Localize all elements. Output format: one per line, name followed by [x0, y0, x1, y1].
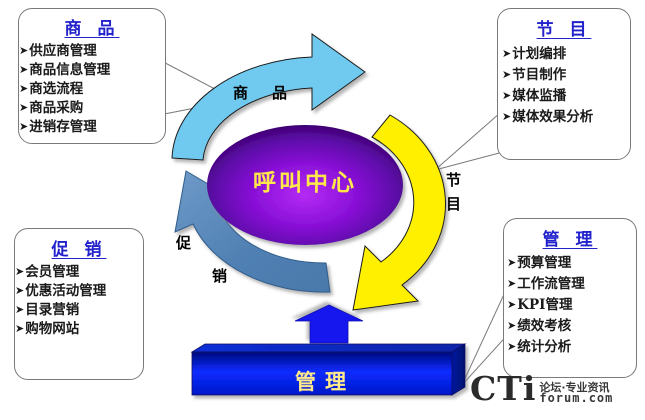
list-item: 媒体监播	[502, 86, 630, 107]
list-item: 绩效考核	[507, 316, 636, 337]
callout-title-program: 节 目	[498, 15, 630, 40]
hub-label: 呼叫中心	[215, 163, 395, 197]
watermark-brand: CTi	[470, 374, 536, 404]
list-item: KPI管理	[507, 295, 636, 316]
manage-arrow	[295, 305, 363, 343]
callout-title-manage: 管 理	[504, 225, 636, 250]
goods-arrow-label: 商品	[233, 82, 311, 103]
callout-list-goods: 供应商管理 商品信息管理 商选流程 商品采购 进销存管理	[19, 42, 165, 137]
list-item: 商品采购	[19, 99, 165, 118]
list-item: 供应商管理	[19, 42, 165, 61]
list-item: 统计分析	[507, 337, 636, 358]
list-item: 商品信息管理	[19, 61, 165, 80]
list-item: 预算管理	[507, 253, 636, 274]
program-arrow-label: 节目	[443, 172, 464, 220]
list-item: 工作流管理	[507, 274, 636, 295]
manage-bar-label: 管理	[190, 366, 460, 396]
watermark-text: 论坛·专业资讯 forum.com	[539, 382, 613, 404]
callout-title-promo: 促 销	[15, 235, 143, 260]
callout-box-program[interactable]: 节 目 计划编排 节目制作 媒体监播 媒体效果分析	[497, 8, 631, 160]
callout-box-goods[interactable]: 商 品 供应商管理 商品信息管理 商选流程 商品采购 进销存管理	[18, 8, 166, 144]
list-item: 会员管理	[15, 263, 143, 282]
list-item: 商选流程	[19, 80, 165, 99]
callout-title-goods: 商 品	[19, 14, 165, 39]
callout-box-promo[interactable]: 促 销 会员管理 优惠活动管理 目录营销 购物网站	[14, 228, 144, 380]
list-item: 优惠活动管理	[15, 282, 143, 301]
diagram-canvas: 商品 节目 促 销 呼叫中心 管理 商 品 供应商管理 商品信息管理 商选流程 …	[0, 0, 645, 420]
callout-list-promo: 会员管理 优惠活动管理 目录营销 购物网站	[15, 263, 143, 339]
callout-box-manage[interactable]: 管 理 预算管理 工作流管理 KPI管理 绩效考核 统计分析	[503, 218, 637, 378]
list-item: 目录营销	[15, 301, 143, 320]
watermark: CTi 论坛·专业资讯 forum.com	[470, 374, 613, 404]
list-item: 计划编排	[502, 44, 630, 65]
callout-list-manage: 预算管理 工作流管理 KPI管理 绩效考核 统计分析	[504, 253, 636, 358]
program-callout-tail	[435, 113, 503, 170]
list-item: 节目制作	[502, 65, 630, 86]
promo-arrow-label-2: 销	[212, 265, 227, 286]
list-item: 媒体效果分析	[502, 107, 630, 128]
list-item: 进销存管理	[19, 118, 165, 137]
promo-arrow-label-1: 促	[176, 232, 191, 253]
list-item: 购物网站	[15, 320, 143, 339]
callout-list-program: 计划编排 节目制作 媒体监播 媒体效果分析	[498, 44, 630, 128]
watermark-url: forum.com	[539, 393, 613, 404]
